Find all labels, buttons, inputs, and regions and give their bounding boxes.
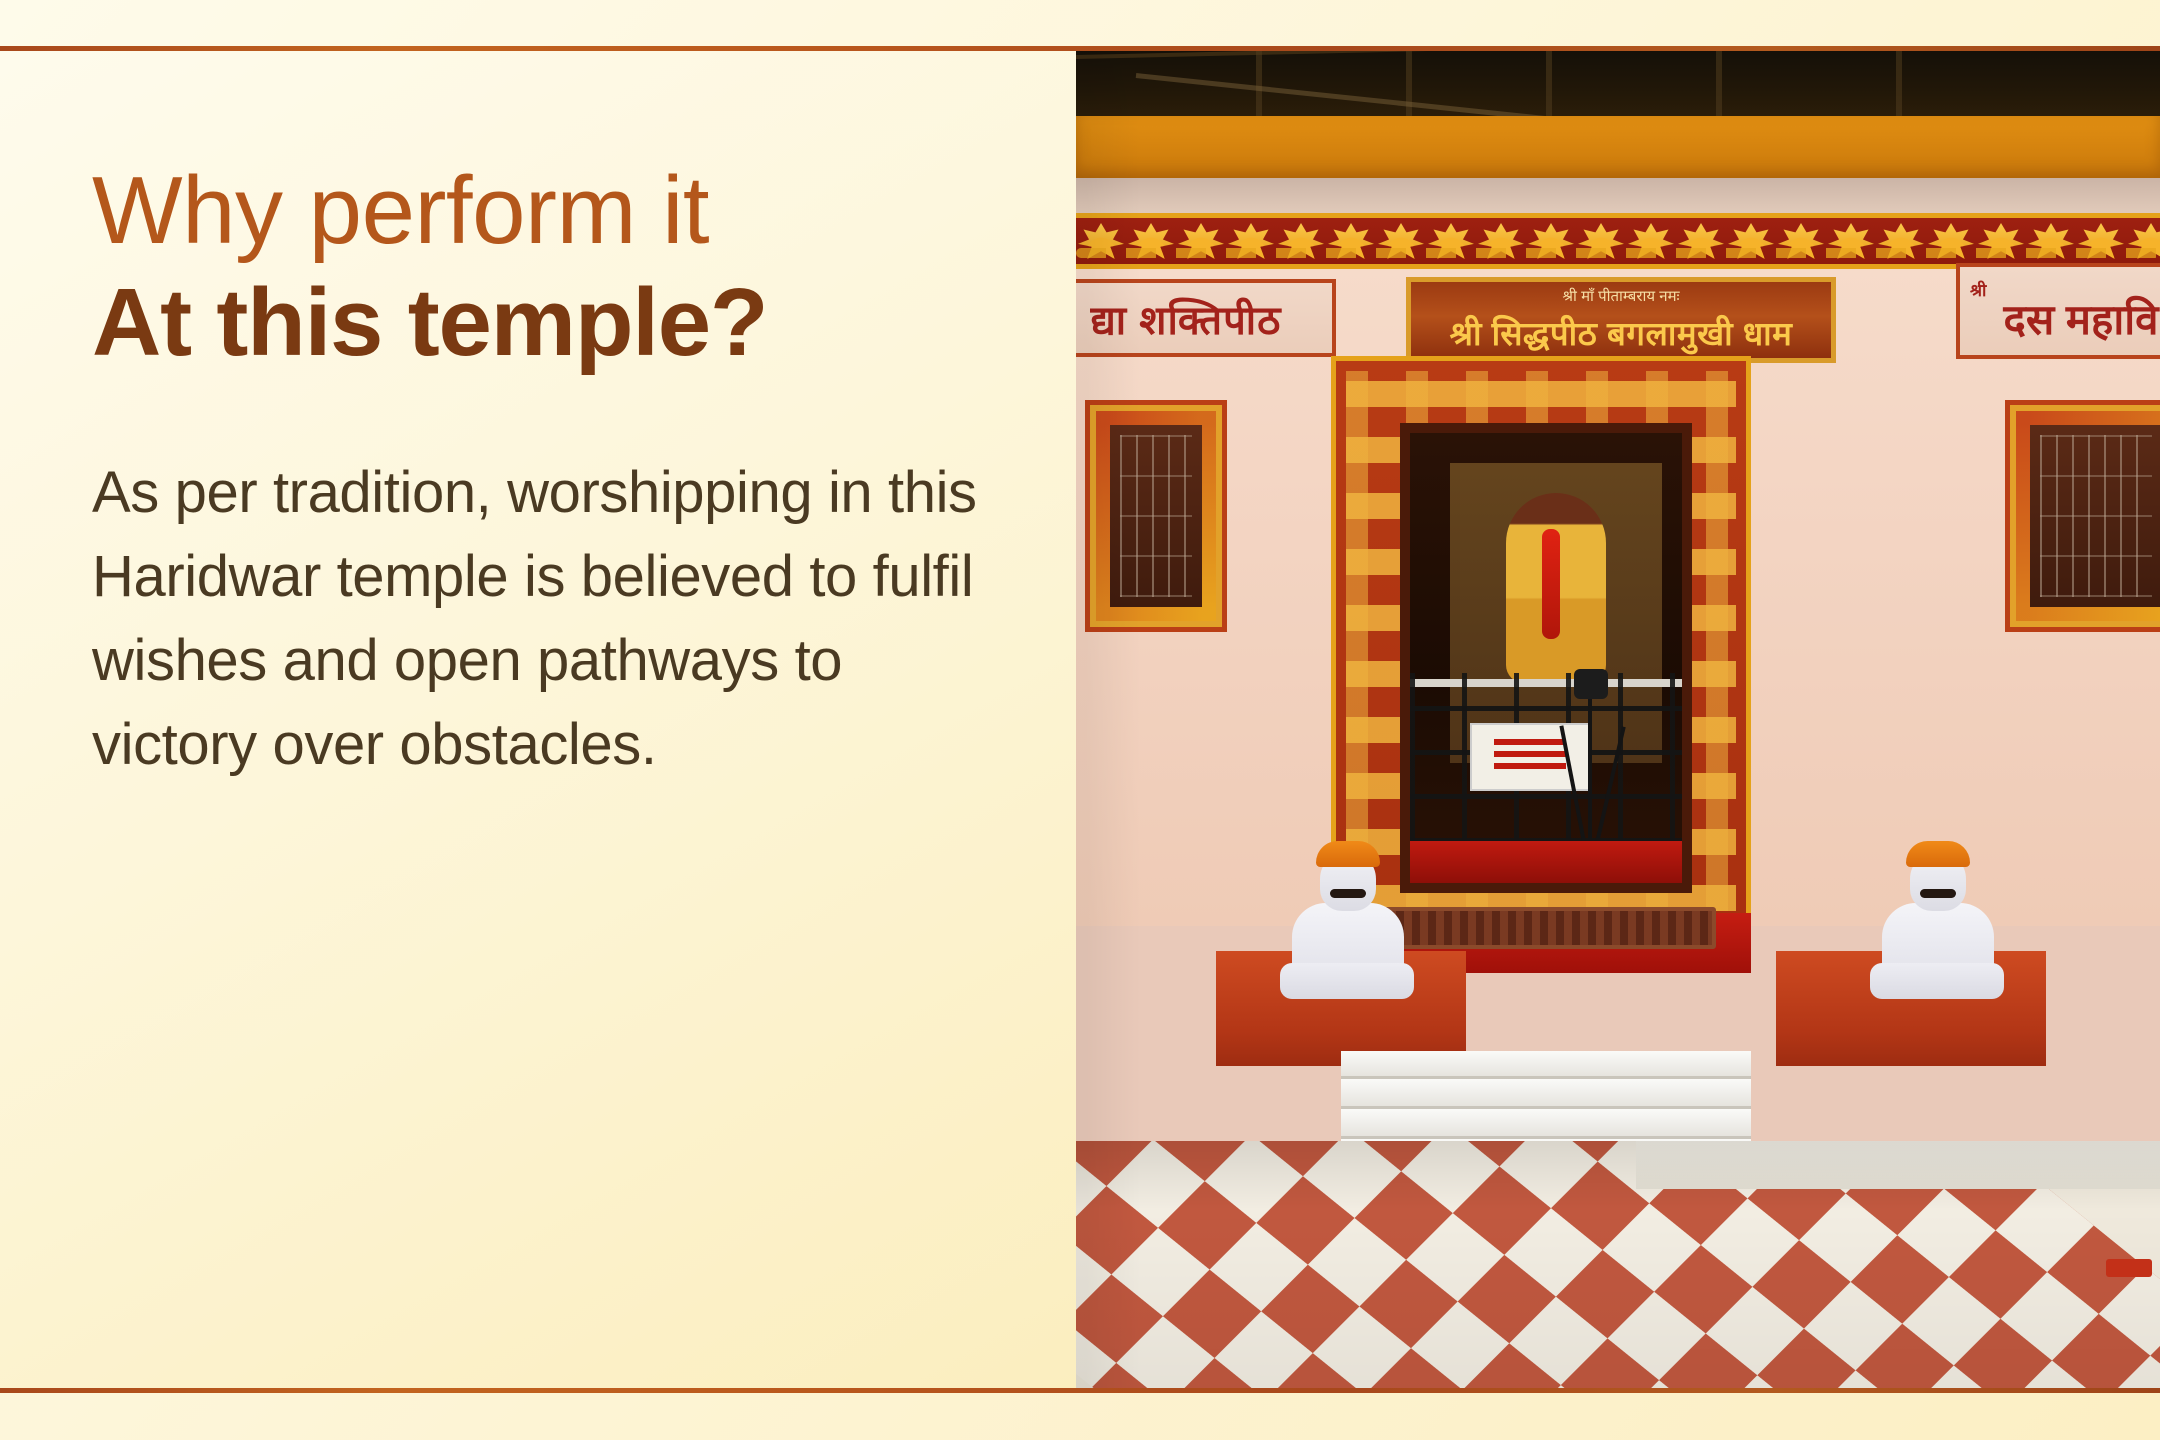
signboard-left-text: द्या शक्तिपीठ [1091, 291, 1282, 346]
bottom-divider-rule [0, 1388, 2160, 1393]
top-divider-rule [0, 46, 2160, 51]
floor-red-marker [2106, 1259, 2152, 1277]
signboard-center-small-text: श्री माँ पीताम्बराय नमः [1562, 286, 1679, 306]
guardian-statue-right [1866, 841, 2006, 1001]
vine-scroll [1076, 248, 2160, 258]
stair-step [1341, 1109, 1751, 1139]
signboard-center-large-text: श्री सिद्धपीठ बगलामुखी धाम [1450, 310, 1793, 355]
window-right [2016, 411, 2160, 621]
ceiling-strut [1546, 51, 1552, 116]
ceiling-beam [1076, 51, 2160, 59]
headline-line-2: At this temple? [92, 273, 1022, 373]
signboard-center: श्री माँ पीताम्बराय नमः श्री सिद्धपीठ बग… [1406, 277, 1836, 363]
signboard-right: श्री दस महावि [1956, 263, 2160, 359]
window-left [1096, 411, 1216, 621]
statue-legs [1870, 963, 2004, 999]
signboard-right-small-text: श्री [1970, 282, 1986, 299]
headline-line-1: Why perform it [92, 161, 1022, 261]
checkered-courtyard-floor [1076, 1141, 2160, 1388]
idol-garland [1542, 529, 1560, 639]
statue-turban [1906, 841, 1970, 867]
text-panel: Why perform it At this temple? As per tr… [0, 51, 1076, 1388]
signboard-right-large-text: दस महावि [2004, 299, 2159, 341]
temple-photo: द्या शक्तिपीठ श्री माँ पीताम्बराय नमः श्… [1076, 51, 2160, 1388]
statue-legs [1280, 963, 1414, 999]
statue-moustache [1920, 889, 1956, 898]
statue-turban [1316, 841, 1380, 867]
guardian-statue-left [1276, 841, 1416, 1001]
leaf-frieze-band [1076, 213, 2160, 269]
shrine-doorway [1400, 423, 1692, 893]
text-panel-inner: Why perform it At this temple? As per tr… [92, 161, 1022, 787]
ceiling-strut [1256, 51, 1262, 116]
signboard-left: द्या शक्तिपीठ [1076, 279, 1336, 357]
body-paragraph: As per tradition, worshipping in this Ha… [92, 451, 1022, 787]
page-title: Why perform it At this temple? [92, 161, 1022, 373]
entrance-rug [1368, 907, 1716, 949]
window-grille [1120, 435, 1192, 597]
ceiling-strut [1716, 51, 1722, 116]
ochre-beam [1076, 116, 2160, 178]
statue-moustache [1330, 889, 1366, 898]
stair-step [1341, 1079, 1751, 1109]
ceiling-band [1076, 51, 2160, 116]
shrine-floor-carpet [1410, 841, 1692, 883]
slide-root: Why perform it At this temple? As per tr… [0, 0, 2160, 1440]
window-grille [2040, 435, 2152, 597]
stair-step [1341, 1051, 1751, 1079]
ceiling-strut [1896, 51, 1902, 116]
floor-shading [1076, 1141, 2160, 1388]
